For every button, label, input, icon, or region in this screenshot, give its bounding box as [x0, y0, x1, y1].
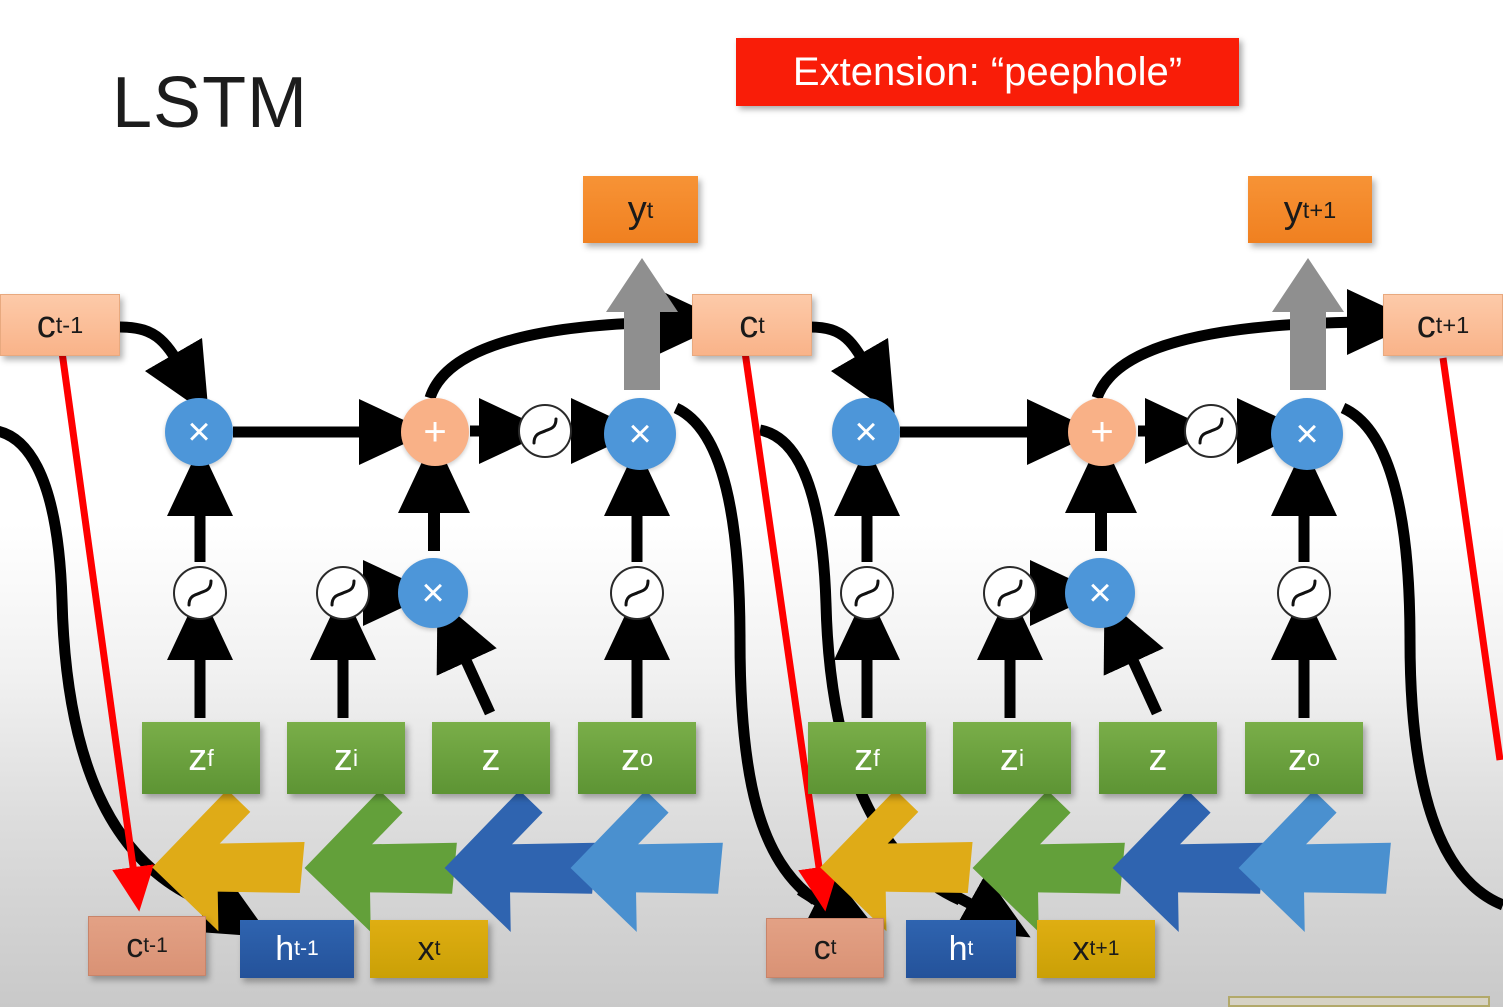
- input-box-prev-cell-t1: ct: [766, 918, 884, 978]
- sigmoid-icon: [528, 414, 562, 448]
- sigmoid-circle-input-t1: [983, 566, 1037, 620]
- gate-box-zi-t-base: z: [334, 739, 353, 777]
- feed-arrow-zo-2: [1239, 779, 1414, 954]
- multiply-glyph: ×: [1088, 571, 1111, 616]
- cell-state-box-c-t: ct: [692, 294, 812, 356]
- output-box-y-t1: yt+1: [1248, 176, 1372, 243]
- cell-state-box-c-t-1-base: c: [37, 306, 56, 344]
- peephole-line-t2: [1443, 358, 1500, 760]
- sigmoid-icon: [993, 576, 1027, 610]
- sigmoid-circle-forget-t1: [840, 566, 894, 620]
- wire-block1-out-head: [950, 893, 998, 919]
- multiply-glyph: ×: [854, 410, 877, 455]
- wire-add-to-ct1: [1097, 322, 1380, 398]
- wire-z-to-inmul-2: [1120, 632, 1157, 713]
- multiply-glyph: ×: [421, 571, 444, 616]
- sigmoid-circle-forget-t: [173, 566, 227, 620]
- multiply-circle-forget-t: ×: [165, 398, 233, 466]
- multiply-circle-forget-t1: ×: [832, 398, 900, 466]
- feed-arrow-zo: [571, 779, 746, 954]
- gate-box-z-t-base: z: [482, 739, 501, 777]
- sigmoid-icon: [1287, 576, 1321, 610]
- multiply-circle-input-t1: ×: [1065, 558, 1135, 628]
- multiply-circle-output-t: ×: [604, 398, 676, 470]
- wire-cprev-to-forget-mul: [120, 327, 190, 383]
- gate-box-zf-t-base: z: [188, 739, 207, 777]
- input-box-prev-hidden-t1: ht: [906, 920, 1016, 978]
- input-box-prev-hidden-t1-base: h: [949, 932, 968, 966]
- bottom-right-frame: [1228, 996, 1490, 1007]
- input-box-x-t1-base: x: [1073, 932, 1090, 966]
- sigmoid-icon: [183, 576, 217, 610]
- multiply-circle-input-t: ×: [398, 558, 468, 628]
- cell-state-box-c-t1-base: c: [1417, 306, 1436, 344]
- tanh-circle-t1: [1184, 404, 1238, 458]
- sigmoid-icon: [620, 576, 654, 610]
- wire-ct-to-forget-mul-2: [810, 327, 876, 383]
- gate-box-z-t1-base: z: [1149, 739, 1168, 777]
- sigmoid-circle-output-t: [610, 566, 664, 620]
- input-box-prev-cell-t-base: c: [126, 929, 143, 963]
- input-box-x-t1: xt+1: [1037, 920, 1155, 978]
- wire-outmul-to-ht-curve: [676, 408, 815, 900]
- cell-state-box-c-t1: ct+1: [1383, 294, 1503, 356]
- gate-box-zo-t1: zo: [1245, 722, 1363, 794]
- peephole-banner: Extension: “peephole”: [736, 38, 1239, 106]
- gate-box-z-t: z: [432, 722, 550, 794]
- sigmoid-circle-output-t1: [1277, 566, 1331, 620]
- gate-box-zf-t1-base: z: [854, 739, 873, 777]
- gate-box-zo-t-base: z: [621, 739, 640, 777]
- input-box-x-t-base: x: [418, 932, 435, 966]
- page-title: LSTM: [112, 62, 308, 144]
- gate-box-zi-t: zi: [287, 722, 405, 794]
- wire-outmul-to-ht-head: [800, 890, 846, 916]
- wire-outmul-to-ht1-curve: [1343, 408, 1503, 905]
- gate-box-zi-t1: zi: [953, 722, 1071, 794]
- input-box-prev-hidden-t: ht-1: [240, 920, 354, 978]
- slide-canvas: LSTM Extension: “peephole” yt ct-1 ct × …: [0, 0, 1503, 1007]
- connection-layer: [0, 0, 1503, 1007]
- wire-prev-out-curve: [0, 430, 200, 900]
- tanh-circle-t: [518, 404, 572, 458]
- input-box-prev-cell-t1-base: c: [814, 931, 831, 965]
- output-box-y-t: yt: [583, 176, 698, 243]
- sigmoid-icon: [1194, 414, 1228, 448]
- add-circle-t1: +: [1068, 398, 1136, 466]
- input-box-prev-cell-t: ct-1: [88, 916, 206, 976]
- gate-box-z-t1: z: [1099, 722, 1217, 794]
- cell-state-box-c-t-base: c: [739, 306, 758, 344]
- output-box-y-t1-base: y: [1284, 191, 1303, 229]
- sigmoid-circle-input-t: [316, 566, 370, 620]
- multiply-glyph: ×: [187, 410, 210, 455]
- multiply-glyph: ×: [1295, 412, 1318, 457]
- add-circle-t: +: [401, 398, 469, 466]
- gate-box-zo-t: zo: [578, 722, 696, 794]
- multiply-glyph: ×: [628, 412, 651, 457]
- gate-box-zf-t: zf: [142, 722, 260, 794]
- sigmoid-icon: [326, 576, 360, 610]
- output-box-y-t-base: y: [628, 191, 647, 229]
- input-box-x-t: xt: [370, 920, 488, 978]
- add-glyph: +: [1090, 410, 1113, 455]
- cell-state-box-c-t-1: ct-1: [0, 294, 120, 356]
- gate-box-zf-t1: zf: [808, 722, 926, 794]
- multiply-circle-output-t1: ×: [1271, 398, 1343, 470]
- gate-box-zi-t1-base: z: [1000, 739, 1019, 777]
- input-box-prev-hidden-t-base: h: [275, 932, 294, 966]
- add-glyph: +: [423, 410, 446, 455]
- sigmoid-icon: [850, 576, 884, 610]
- gate-box-zo-t1-base: z: [1288, 739, 1307, 777]
- wire-z-to-inmul: [453, 632, 490, 713]
